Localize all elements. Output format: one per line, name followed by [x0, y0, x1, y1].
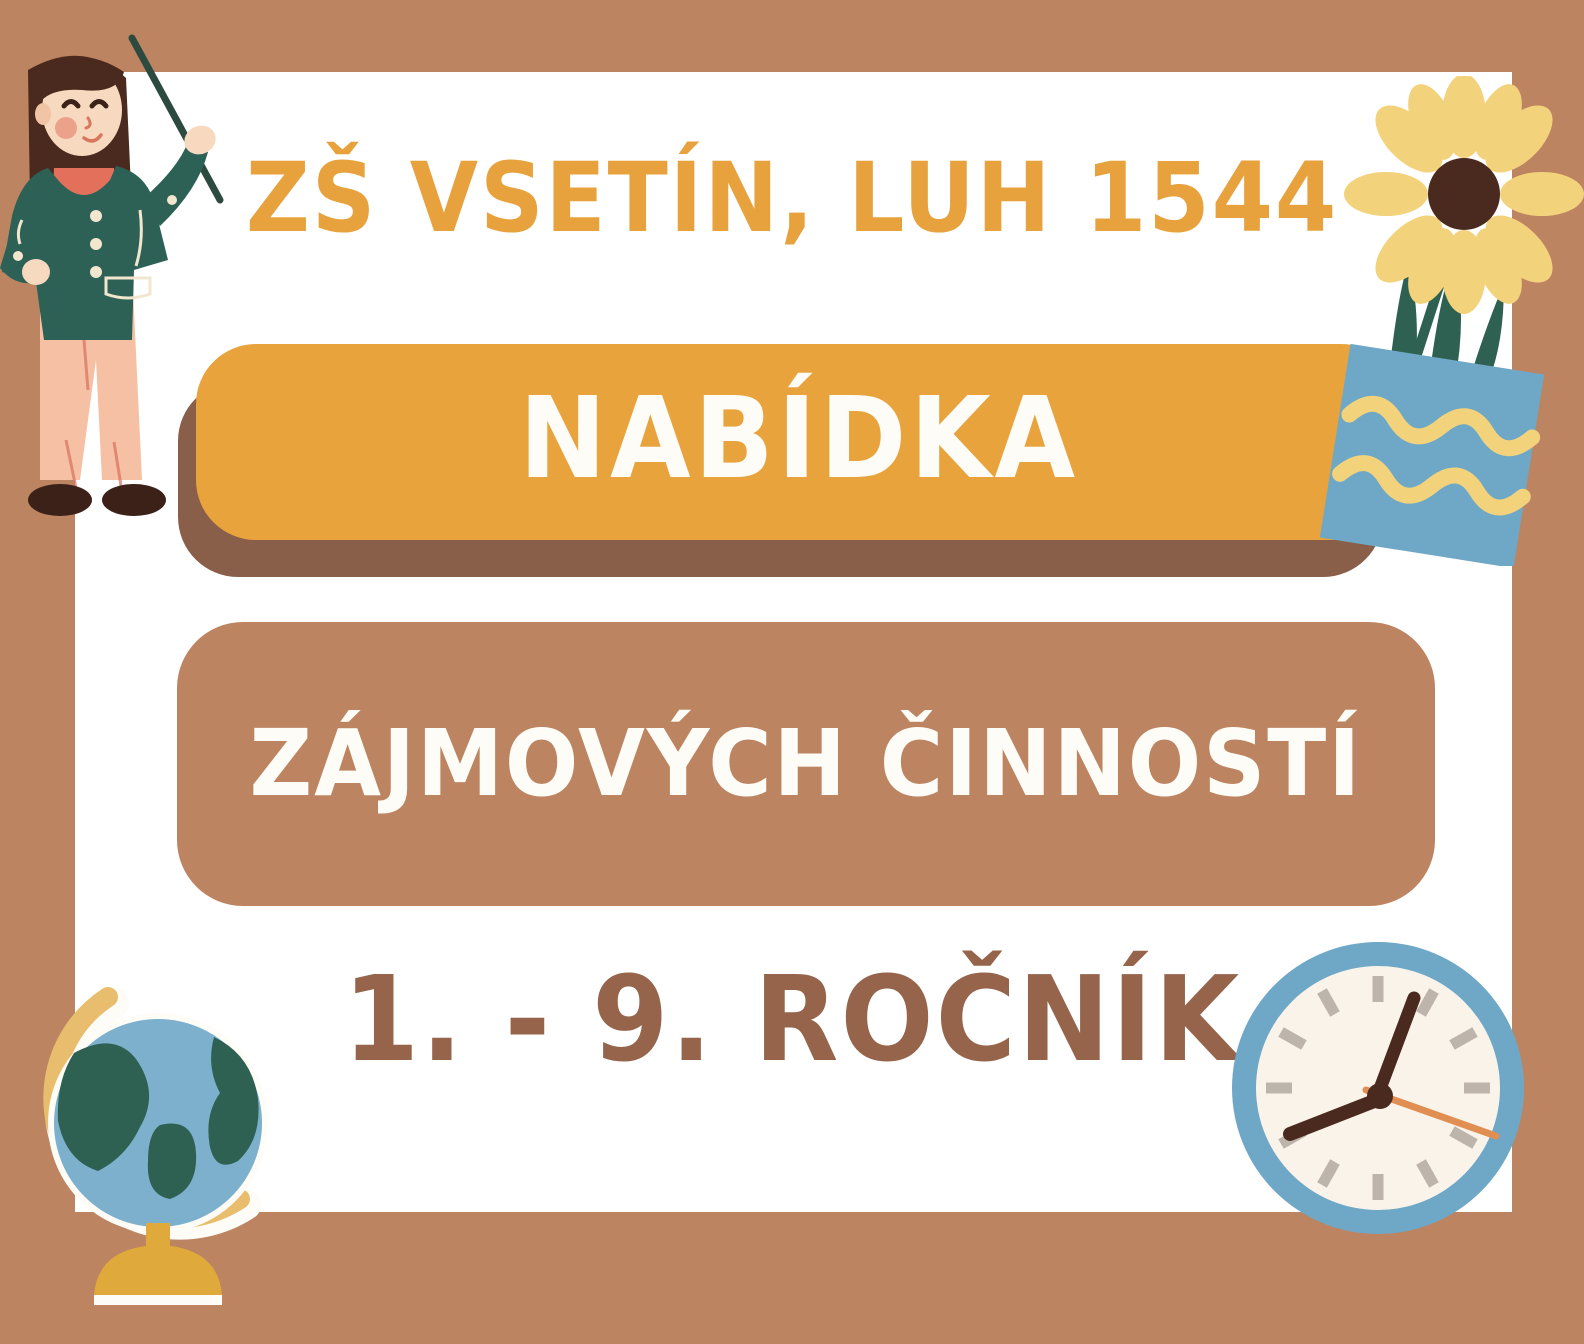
teacher-illustration	[0, 10, 232, 615]
cinnosti-banner: ZÁJMOVÝCH ČINNOSTÍ	[177, 622, 1435, 906]
nabidka-banner: NABÍDKA	[196, 344, 1401, 540]
nabidka-label: NABÍDKA	[519, 383, 1079, 495]
poster-root: ZŠ VSETÍN, LUH 1544 NABÍDKA ZÁJMOVÝCH ČI…	[0, 0, 1584, 1344]
clock-illustration	[1218, 928, 1538, 1253]
globe-illustration	[10, 975, 306, 1320]
cinnosti-label: ZÁJMOVÝCH ČINNOSTÍ	[250, 718, 1363, 810]
sunflower-illustration	[1292, 76, 1584, 571]
